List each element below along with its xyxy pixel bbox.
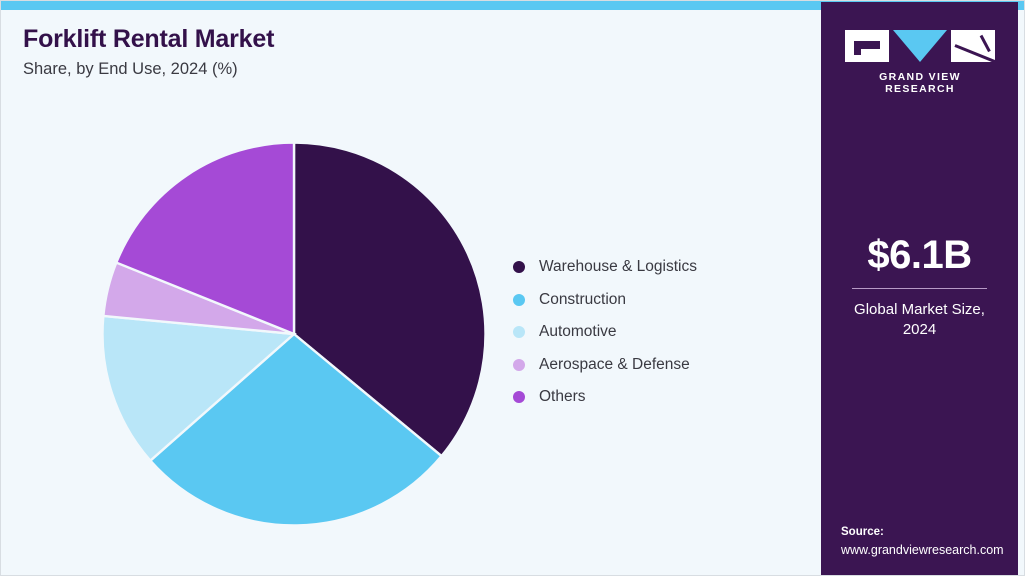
source-url[interactable]: www.grandviewresearch.com xyxy=(841,541,1021,559)
legend-label: Warehouse & Logistics xyxy=(539,258,697,276)
chart-card: Forklift Rental Market Share, by End Use… xyxy=(0,0,1025,576)
legend-label: Automotive xyxy=(539,323,617,341)
side-panel: GRAND VIEW RESEARCH $6.1B Global Market … xyxy=(821,2,1018,576)
legend-item[interactable]: Warehouse & Logistics xyxy=(513,251,697,284)
brand-logo: GRAND VIEW RESEARCH xyxy=(845,30,995,95)
legend-label: Construction xyxy=(539,291,626,309)
pie-chart xyxy=(102,142,486,526)
page-title: Forklift Rental Market xyxy=(23,25,783,54)
legend-item[interactable]: Automotive xyxy=(513,316,697,349)
legend-item[interactable]: Others xyxy=(513,381,697,414)
stat-label: Global Market Size, 2024 xyxy=(821,300,1018,341)
legend-swatch-icon xyxy=(513,391,525,403)
pie-slice-group xyxy=(103,143,486,526)
stat-value: $6.1B xyxy=(821,235,1018,275)
legend-swatch-icon xyxy=(513,294,525,306)
legend-swatch-icon xyxy=(513,326,525,338)
chart-legend: Warehouse & LogisticsConstructionAutomot… xyxy=(513,251,697,414)
legend-swatch-icon xyxy=(513,359,525,371)
stat-divider xyxy=(852,288,987,289)
logo-r-icon xyxy=(951,30,995,62)
chart-header: Forklift Rental Market Share, by End Use… xyxy=(23,25,783,80)
legend-swatch-icon xyxy=(513,261,525,273)
legend-label: Aerospace & Defense xyxy=(539,356,690,374)
logo-v-triangle-icon xyxy=(893,30,947,62)
logo-wordmark: GRAND VIEW RESEARCH xyxy=(845,71,995,95)
source-block: Source: www.grandviewresearch.com xyxy=(841,524,1021,559)
logo-g-icon xyxy=(845,30,889,62)
legend-item[interactable]: Construction xyxy=(513,284,697,317)
legend-label: Others xyxy=(539,388,586,406)
source-title: Source: xyxy=(841,524,1021,541)
logo-marks xyxy=(845,30,995,62)
page-subtitle: Share, by End Use, 2024 (%) xyxy=(23,60,783,80)
legend-item[interactable]: Aerospace & Defense xyxy=(513,349,697,382)
market-size-stat: $6.1B Global Market Size, 2024 xyxy=(821,235,1018,341)
pie-chart-svg xyxy=(102,142,486,526)
